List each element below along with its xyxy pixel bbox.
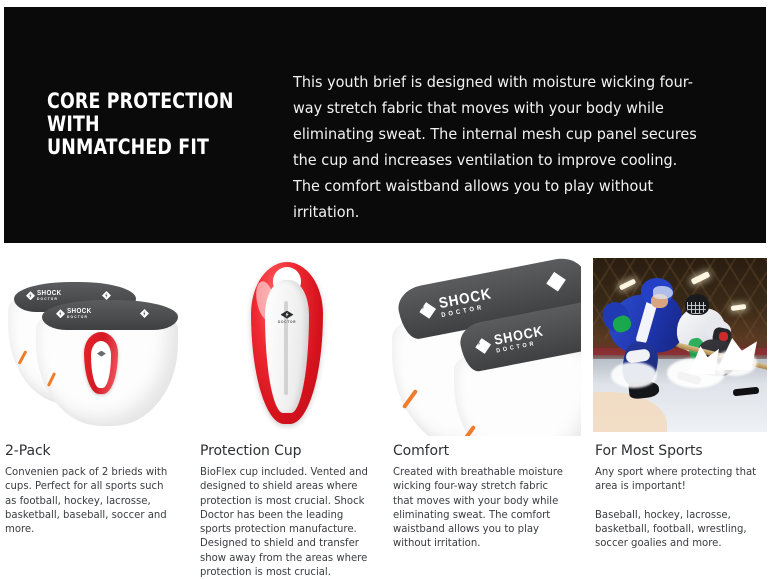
- shock-doctor-bolt-diamond-icon: [474, 337, 493, 356]
- protection-cup-photo: DOCTOR: [195, 250, 388, 436]
- brand-name-line1: SHOCK: [67, 308, 92, 315]
- shock-doctor-bolt-diamond-icon: [56, 309, 65, 318]
- shock-doctor-bolt-diamond-icon: [140, 309, 149, 318]
- hero-banner: CORE PROTECTION WITH UNMATCHED FIT This …: [4, 7, 766, 243]
- brand-name-line2: DOCTOR: [67, 316, 92, 320]
- feature-body-for-most-sports: Any sport where protecting that area is …: [595, 465, 768, 551]
- hockey-photo-frame: [593, 258, 767, 432]
- two-pack-briefs-photo: SHOCK DOCTOR SHOCK: [0, 250, 193, 436]
- brief-front-waistband: SHOCK DOCTOR: [42, 300, 178, 330]
- shock-doctor-bolt-diamond-icon: [418, 300, 438, 320]
- hockey-players-action-photo: [588, 250, 770, 436]
- player-white-face-cage: [687, 302, 706, 314]
- player-blue-visor: [653, 286, 673, 299]
- feature-grid: SHOCK DOCTOR SHOCK: [0, 250, 770, 561]
- feature-heading-2-pack: 2-Pack: [5, 443, 187, 460]
- feature-heading-comfort: Comfort: [393, 443, 575, 460]
- hero-description: This youth brief is designed with moistu…: [293, 69, 706, 225]
- feature-column-comfort: SHOCK DOCTOR SHOCK: [388, 250, 581, 561]
- brief-front: SHOCK DOCTOR: [36, 290, 178, 426]
- feature-heading-for-most-sports: For Most Sports: [595, 443, 770, 460]
- feature-body-comfort: Created with breathable moisture wicking…: [393, 465, 566, 551]
- feature-body-protection-cup: BioFlex cup included. Vented and designe…: [200, 465, 373, 579]
- shock-doctor-bolt-diamond-icon: [280, 311, 293, 319]
- feature-column-protection-cup: DOCTOR Protection Cup BioFlex cup includ…: [195, 250, 388, 561]
- feature-column-for-most-sports: For Most Sports Any sport where protecti…: [588, 250, 770, 561]
- feature-column-2-pack: SHOCK DOCTOR SHOCK: [0, 250, 193, 561]
- ice-spray: [611, 362, 657, 388]
- shock-doctor-logo-closeup-back-right: [544, 270, 567, 293]
- bioflex-cup: DOCTOR: [251, 262, 323, 424]
- shock-doctor-bolt-diamond-icon: [544, 270, 567, 293]
- brief-closeup-front: SHOCK DOCTOR: [454, 302, 581, 436]
- shock-doctor-logo-front-right: [140, 309, 149, 318]
- hero-title: CORE PROTECTION WITH UNMATCHED FIT: [47, 90, 259, 159]
- brand-name-line2: DOCTOR: [278, 320, 296, 324]
- feature-body-2-pack: Convenien pack of 2 brieds with cups. Pe…: [5, 465, 178, 536]
- shock-doctor-logo-closeup-front: SHOCK DOCTOR: [473, 322, 551, 358]
- shock-doctor-logo-front: SHOCK DOCTOR: [56, 308, 94, 320]
- feature-heading-protection-cup: Protection Cup: [200, 443, 382, 460]
- comfort-waistband-closeup-photo: SHOCK DOCTOR SHOCK: [388, 250, 581, 436]
- shock-doctor-bolt-diamond-icon: [26, 291, 35, 300]
- cup-brand-logo: DOCTOR: [278, 311, 296, 324]
